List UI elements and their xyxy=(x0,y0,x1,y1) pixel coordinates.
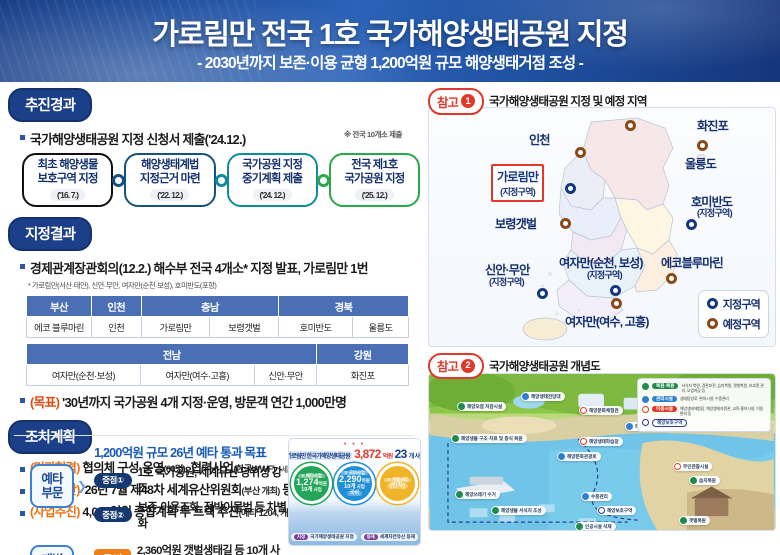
map-legend-item-planned: 예정구역 xyxy=(707,316,760,332)
goal-line: (목표) '30년까지 국가공원 4개 지정·운영, 방문객 연간 1,000만… xyxy=(20,392,420,411)
timeline-step-line1: 해양생태계법 xyxy=(141,159,199,171)
chart-title: 가로림만 한국가해양생태공원 3,872 억원 23 개 사업 xyxy=(289,447,420,461)
concept-chip: 습지복원 xyxy=(689,476,720,485)
concept-chip: 해양생물 서식지 조성 xyxy=(491,506,546,515)
restoration-icon xyxy=(456,491,463,498)
budget-label-line2: 부문 xyxy=(41,486,62,500)
concept-chip-label: 무인관찰시설 xyxy=(683,464,708,470)
timeline-step: 해양생태계법지정근거 마련 ('22. 12.) xyxy=(124,153,215,207)
timeline-step: 최초 해양생물보호구역 지정 ('16. 7.) xyxy=(22,153,113,207)
map-label-yeojaman-yg: 여자만(여수, 고흥) xyxy=(565,312,648,330)
budget-chip-row: 국 비 2,360억원 갯벌생태길 등 10개 사업 xyxy=(94,542,288,555)
designation-table-1: 부산 인천 충남 경북 에코 블루마린 인천 가로림만 보령갯벌 호미반도 울릉… xyxy=(26,295,409,338)
budget-chip-text: 1호 국가공원, 세계유산 당위성 강조 xyxy=(138,464,288,496)
chart-slice-subunit: 사업 xyxy=(356,484,365,489)
ref1-badge-label: 참고 xyxy=(437,92,458,111)
chart-project-count: 23 xyxy=(395,447,407,461)
table-cell: 화진포 xyxy=(317,365,409,386)
designated-pin-icon xyxy=(707,298,718,309)
facility-icon xyxy=(522,393,529,400)
progress-timeline: 최초 해양생물보호구역 지정 ('16. 7.) 해양생태계법지정근거 마련 (… xyxy=(22,153,420,207)
table-cell: 인천 xyxy=(91,317,141,338)
timeline-step-date: ('25. 12.) xyxy=(355,189,394,201)
timeline-step-date: ('24. 12.) xyxy=(253,189,292,201)
chart-total-unit: 억원 xyxy=(383,451,393,460)
timeline-step-line2: 보호구역 지정 xyxy=(38,173,98,185)
result-bullet: 경제관계장관회의(12.2.) 해수부 전국 4개소* 지정 발표, 가로림만 … xyxy=(20,258,420,277)
concept-chip-label: 갯벌복원 xyxy=(689,518,706,524)
budget-headline: 1,200억원 규모 26년 예타 통과 목표 xyxy=(94,442,288,461)
concept-chip-label: 해양생태학습장 xyxy=(589,439,619,445)
map-sublabel-homibando: (지정구역) xyxy=(697,206,732,219)
bullet-square-icon xyxy=(20,467,25,472)
map-legend: 지정구역 예정구역 xyxy=(698,290,769,338)
ref1-badge: 참고 1 xyxy=(428,88,484,115)
chart-slice-unit: 억원 xyxy=(362,478,370,483)
restoration-icon xyxy=(576,523,583,530)
restoration-icon xyxy=(452,435,459,442)
concept-chip: 해양생태학습장 xyxy=(579,437,623,446)
map-label-ulleungdo: 울릉도 xyxy=(685,154,716,172)
restoration-icon xyxy=(680,517,687,524)
map-legend-label: 예정구역 xyxy=(723,316,760,332)
concept-legend-tag: 이용시설 xyxy=(652,406,677,412)
concept-legend: 복원·복원 서식지 복원, 경관보전, 습지복원, 갯벌복원, 보호종 관리, … xyxy=(637,378,771,432)
timeline-step-date: ('22. 12.) xyxy=(150,189,189,201)
budget-label-individual: 개별 부문 xyxy=(30,545,74,555)
result-footnote: * 가로림만(서산·태안), 신안·무안, 여자만(순천·보성), 호미반도(포… xyxy=(28,280,420,291)
table-row: 여자만(순천·보성) 여자만(여수·고흥) 신안·무안 화진포 xyxy=(27,365,409,386)
bullet-square-icon xyxy=(20,511,25,516)
table-header-row: 부산 인천 충남 경북 xyxy=(27,296,409,317)
facility-icon xyxy=(582,493,589,500)
map-pin-incheon[interactable] xyxy=(575,147,586,158)
concept-chip-label: 수중관리 xyxy=(591,494,608,500)
timeline-step-line2: 지정근거 마련 xyxy=(140,173,200,185)
concept-legend-item: 해양보호구역 xyxy=(642,419,766,427)
table-header-cell: 전남 xyxy=(27,344,317,365)
concept-chip-label: 해양문화관광로 xyxy=(567,454,597,460)
concept-legend-tag: 관리시설 xyxy=(652,396,677,402)
concept-legend-desc: 서식지 복원, 경관보전, 습지복원, 갯벌복원, 보호종 관리, 오염저감 등 xyxy=(681,383,766,393)
ref2-heading: 참고 2 국가해양생태공원 개념도 xyxy=(428,353,776,380)
chart-slice-label: ③ 개별사업 xyxy=(384,478,411,483)
bullet-square-icon xyxy=(20,489,25,494)
budget-label-line1: 예타 xyxy=(41,472,62,486)
table-cell: 가로림만 xyxy=(141,317,210,338)
chart-slice-subunit: 사업 xyxy=(313,487,322,492)
concept-chip: 해양보호구역 xyxy=(597,506,636,515)
chart-footer-item: 등재 세계자연유산 등재 xyxy=(361,533,418,541)
table-row: 에코 블루마린 인천 가로림만 보령갯벌 호미반도 울릉도 xyxy=(27,317,409,338)
concept-chip-label: 해양보호구역 xyxy=(607,508,632,514)
restoration-icon xyxy=(642,383,649,390)
chart-total-value: 3,872 xyxy=(354,447,381,461)
map-legend-item-designated: 지정구역 xyxy=(707,296,760,312)
concept-chip-label: 해양생물 서식지 조성 xyxy=(501,508,542,514)
map-label-eco-bluemarine: 에코블루마린 xyxy=(661,253,723,271)
protected-area-icon xyxy=(642,419,649,426)
progress-note: ※ 전국 10개소 제출 xyxy=(344,129,402,140)
chart-slice: ② 국비사업 2,290억원 10개 사업 국비 xyxy=(334,463,375,504)
chart-footer: 지정 국가해양생태공원 지정 등재 세계자연유산 등재 xyxy=(289,533,420,541)
concept-chip: 인공시설 식재 xyxy=(575,522,616,531)
timeline-connector-icon xyxy=(215,174,228,187)
map-sublabel-sinan-muan: (지정구역) xyxy=(489,275,524,288)
timeline-step-line1: 국가공원 지정 xyxy=(242,159,302,171)
budget-label-preliminary: 예타 부문 xyxy=(30,464,74,508)
chart-slice: ③ 개별사업 (민자) xyxy=(377,463,418,504)
planned-pin-icon xyxy=(707,318,718,329)
table-cell: 신안·무안 xyxy=(254,365,317,386)
right-column: 참고 1 국가해양생태공원 지정 및 예정 지역 xyxy=(428,88,776,531)
map-sublabel-yeojaman-sc: (지정구역) xyxy=(587,268,622,281)
chart-footer-item: 지정 국가해양생태공원 지정 xyxy=(291,533,357,541)
map-pin-garorimman[interactable] xyxy=(565,183,576,194)
section-heading-result: 지정결과 xyxy=(8,217,92,251)
budget-row-preliminary: 예타 부문 ❯ 1,200억원 규모 26년 예타 통과 목표 중점① 1호 국… xyxy=(30,442,288,531)
table-cell: 보령갯벌 xyxy=(210,317,279,338)
timeline-step-line1: 최초 해양생물 xyxy=(38,159,98,171)
infographic-page: 가로림만 전국 1호 국가해양생태공원 지정 - 2030년까지 보존·이용 균… xyxy=(0,0,780,555)
map-pin-eco-bluemarine[interactable] xyxy=(666,273,677,284)
map-pin-ulleungdo[interactable] xyxy=(697,140,708,151)
facility-icon xyxy=(558,453,565,460)
use-facility-icon xyxy=(580,407,587,414)
concept-chip: 해양생물 구조·치료 및 증식 복원 xyxy=(451,434,527,443)
map-legend-label: 지정구역 xyxy=(723,296,760,312)
chart-slice-tag: (민자) xyxy=(387,483,408,489)
budget-chip-text: 2,360억원 갯벌생태길 등 10개 사업 xyxy=(137,542,288,555)
table-header-row: 전남 강원 xyxy=(27,344,409,365)
concept-chip-label: 해양쓰레기 수거 xyxy=(465,492,496,498)
chart-footer-text: 세계자연유산 등재 xyxy=(380,534,415,540)
map-label-incheon: 인천 xyxy=(529,130,550,148)
map-pin-sinan-muan[interactable] xyxy=(537,288,548,299)
concept-legend-tag: 복원·복원 xyxy=(652,383,678,389)
divider xyxy=(14,435,414,436)
table-header-cell: 부산 xyxy=(27,296,92,317)
table-cell: 울릉도 xyxy=(352,317,408,338)
page-subtitle: - 2030년까지 보존·이용 균형 1,200억원 규모 해양생태거점 조성 … xyxy=(0,51,780,73)
timeline-step-line2: 중기계획 제출 xyxy=(242,173,302,185)
concept-chip: 해양오염 저감시설 xyxy=(457,402,506,411)
timeline-step-date: ('16. 7.) xyxy=(50,189,85,201)
ref2-badge-label: 참고 xyxy=(437,356,458,375)
budget-chip-text: 보존·이용조화, 점박이물범 등 차별화 xyxy=(138,499,288,531)
table-cell: 여자만(여수·고흥) xyxy=(140,365,254,386)
chart-slice-unit: 억원 xyxy=(319,481,327,486)
map-label-hwajinpo: 화진포 xyxy=(697,116,728,134)
table-header-cell: 경북 xyxy=(279,296,409,317)
concept-legend-desc: 생태탐방로, 편의시설, 수중관리 xyxy=(680,396,729,401)
map-pin-homibando[interactable] xyxy=(686,219,697,230)
progress-bullet-text: 국가해양생태공원 지정 신청서 제출('24.12.) xyxy=(30,129,246,148)
chart-slice: ① 예타사업 1,274억원 10개 사업 xyxy=(291,463,332,504)
facility-icon xyxy=(626,423,633,430)
page-title: 가로림만 전국 1호 국가해양생태공원 지정 xyxy=(0,11,780,53)
map-pin-yeojaman-yg[interactable] xyxy=(611,298,622,309)
ref1-badge-number: 1 xyxy=(461,94,475,108)
korea-map: 화진포 인천 울릉도 가로림만 (지정구역) 호미반도 (지정구역) 보령갯벌 … xyxy=(428,107,776,347)
goal-tag: (목표) xyxy=(30,395,59,410)
chart-project-unit: 개 사업 xyxy=(409,451,421,460)
table-cell: 에코 블루마린 xyxy=(27,317,92,338)
concept-legend-tag: 해양보호구역 xyxy=(652,419,687,427)
concept-chip-label: 인공시설 식재 xyxy=(585,524,612,530)
concept-legend-item: 이용시설 해양생태체험장, 해양생태자원관, 교육·홍보시설, 이용편의 등 xyxy=(642,406,766,416)
table-header-cell: 강원 xyxy=(317,344,409,365)
map-label-boryeong: 보령갯벌 xyxy=(495,214,536,232)
header-banner: 가로림만 전국 1호 국가해양생태공원 지정 - 2030년까지 보존·이용 균… xyxy=(0,0,780,82)
budget-chip-tag: 국 비 xyxy=(94,549,131,555)
map-pin-boryeong[interactable] xyxy=(560,218,571,229)
concept-chip: 해양문화체험관 xyxy=(579,406,623,415)
chevron-right-icon: ❯ xyxy=(77,479,87,493)
map-label-garorimman-highlight: 가로림만 (지정구역) xyxy=(491,164,544,202)
facility-icon xyxy=(642,396,649,403)
chart-slice-sub: 10개 xyxy=(301,487,312,493)
chart-footer-tag: 지정 xyxy=(294,534,308,540)
use-facility-icon xyxy=(642,406,649,413)
ref2-title: 국가해양생태공원 개념도 xyxy=(489,358,600,374)
concept-legend-item: 관리시설 생태탐방로, 편의시설, 수중관리 xyxy=(642,396,766,403)
decor-dots: ● ● ● xyxy=(289,439,420,447)
concept-diagram: 해양생태전망대 해양오염 저감시설 해양문화체험관 해양생태체험관 해양생물 구… xyxy=(428,373,776,531)
timeline-connector-icon xyxy=(317,174,330,187)
map-pin-hwajinpo[interactable] xyxy=(625,120,636,131)
budget-chip-tag: 중점① xyxy=(94,473,132,488)
concept-chip-label: 해양생태전망대 xyxy=(531,394,561,400)
protected-area-icon xyxy=(598,507,605,514)
chart-title-prefix: 가로림만 한국가해양생태공원 xyxy=(288,451,352,460)
goal-text: '30년까지 국가공원 4개 지정·운영, 방문객 연간 1,000만명 xyxy=(62,395,346,410)
table-cell: 여자만(순천·보성) xyxy=(27,365,141,386)
concept-legend-desc: 해양생태체험장, 해양생태자원관, 교육·홍보시설, 이용편의 등 xyxy=(680,406,766,416)
map-label-garorimman: 가로림만 xyxy=(497,167,538,185)
concept-chip-label: 습지복원 xyxy=(699,478,716,484)
concept-chip: 갯벌복원 xyxy=(679,516,710,525)
concept-chip-label: 해양오염 저감시설 xyxy=(467,404,502,410)
timeline-step: 전국 제1호국가공원 지정 ('25. 12.) xyxy=(329,153,420,207)
concept-chip: 해양쓰레기 수거 xyxy=(455,490,500,499)
budget-row-individual: 개별 부문 ❯ 국 비 2,360억원 갯벌생태길 등 10개 사업 민 자 3… xyxy=(30,540,288,555)
bullet-square-icon xyxy=(20,264,25,269)
restoration-icon xyxy=(690,477,697,484)
chart-slice-sub: 10개 xyxy=(344,484,355,490)
table-header-cell: 인천 xyxy=(91,296,141,317)
budget-chip-row: 중점① 1호 국가공원, 세계유산 당위성 강조 xyxy=(94,464,288,496)
concept-chip: 무인관찰시설 xyxy=(673,462,712,471)
table-cell: 호미반도 xyxy=(279,317,353,338)
ref1-heading: 참고 1 국가해양생태공원 지정 및 예정 지역 xyxy=(428,88,776,115)
budget-chip-tag: 중점② xyxy=(94,507,132,522)
chart-slices: ① 예타사업 1,274억원 10개 사업 ② 국비사업 2,290억원 10개… xyxy=(289,463,420,504)
map-sublabel-garorimman: (지정구역) xyxy=(497,185,538,198)
ref1-title: 국가해양생태공원 지정 및 예정 지역 xyxy=(489,93,647,109)
timeline-step: 국가공원 지정중기계획 제출 ('24. 12.) xyxy=(227,153,318,207)
concept-chip: 해양생태전망대 xyxy=(521,392,565,401)
budget-chip-row: 중점② 보존·이용조화, 점박이물범 등 차별화 xyxy=(94,499,288,531)
restoration-icon xyxy=(458,403,465,410)
ref2-badge: 참고 2 xyxy=(428,353,484,380)
restoration-icon xyxy=(492,507,499,514)
concept-chip: 해양문화관광로 xyxy=(557,452,601,461)
budget-block: 예타 부문 ❯ 1,200억원 규모 26년 예타 통과 목표 중점① 1호 국… xyxy=(30,442,288,555)
chart-footer-tag: 등재 xyxy=(364,534,378,540)
use-facility-icon xyxy=(580,438,587,445)
concept-legend-item: 복원·복원 서식지 복원, 경관보전, 습지복원, 갯벌복원, 보호종 관리, … xyxy=(642,383,766,393)
bullet-square-icon xyxy=(20,135,25,140)
table-header-cell: 충남 xyxy=(141,296,279,317)
designation-table-2: 전남 강원 여자만(순천·보성) 여자만(여수·고흥) 신안·무안 화진포 xyxy=(26,343,409,386)
timeline-step-line1: 전국 제1호 xyxy=(351,159,397,171)
concept-chip: 수중관리 xyxy=(581,492,612,501)
chart-footer-text: 국가해양생태공원 지정 xyxy=(310,534,354,540)
progress-bullet: 국가해양생태공원 지정 신청서 제출('24.12.) xyxy=(20,129,246,148)
budget-pie-chart: ● ● ● 가로림만 한국가해양생태공원 3,872 억원 23 개 사업 ① … xyxy=(288,438,421,546)
concept-chip-label: 해양문화체험관 xyxy=(589,408,619,414)
ref2-badge-number: 2 xyxy=(461,359,475,373)
timeline-step-line2: 국가공원 지정 xyxy=(344,173,404,185)
result-bullet-text: 경제관계장관회의(12.2.) 해수부 전국 4개소* 지정 발표, 가로림만 … xyxy=(30,258,368,277)
chart-slice-tag: 국비 xyxy=(347,491,362,496)
bullet-square-icon xyxy=(20,398,25,403)
timeline-connector-icon xyxy=(112,174,125,187)
concept-chip-label: 해양생물 구조·치료 및 증식 복원 xyxy=(461,436,523,442)
use-facility-icon xyxy=(674,463,681,470)
section-heading-progress: 추진경과 xyxy=(8,88,92,122)
map-pin-yeojaman-sc[interactable] xyxy=(610,285,621,296)
